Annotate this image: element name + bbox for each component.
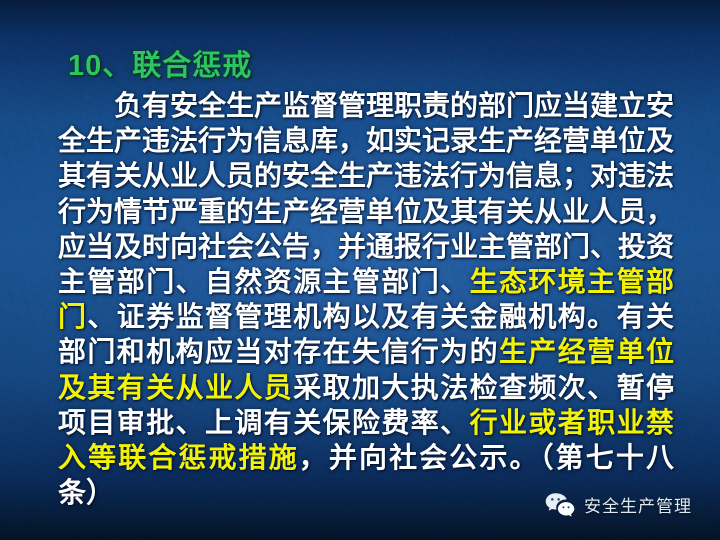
presentation-slide: 10、联合惩戒 负有安全生产监督管理职责的部门应当建立安全生产违法行为信息库，如… (0, 0, 720, 540)
slide-title: 10、联合惩戒 (68, 42, 252, 84)
wechat-icon (545, 492, 575, 517)
wechat-account-name: 安全生产管理 (584, 492, 692, 517)
slide-footer: 安全生产管理 (0, 480, 720, 540)
slide-body-paragraph: 负有安全生产监督管理职责的部门应当建立安全生产违法行为信息库，如实记录生产经营单… (58, 88, 674, 510)
wechat-account-badge: 安全生产管理 (545, 492, 692, 517)
